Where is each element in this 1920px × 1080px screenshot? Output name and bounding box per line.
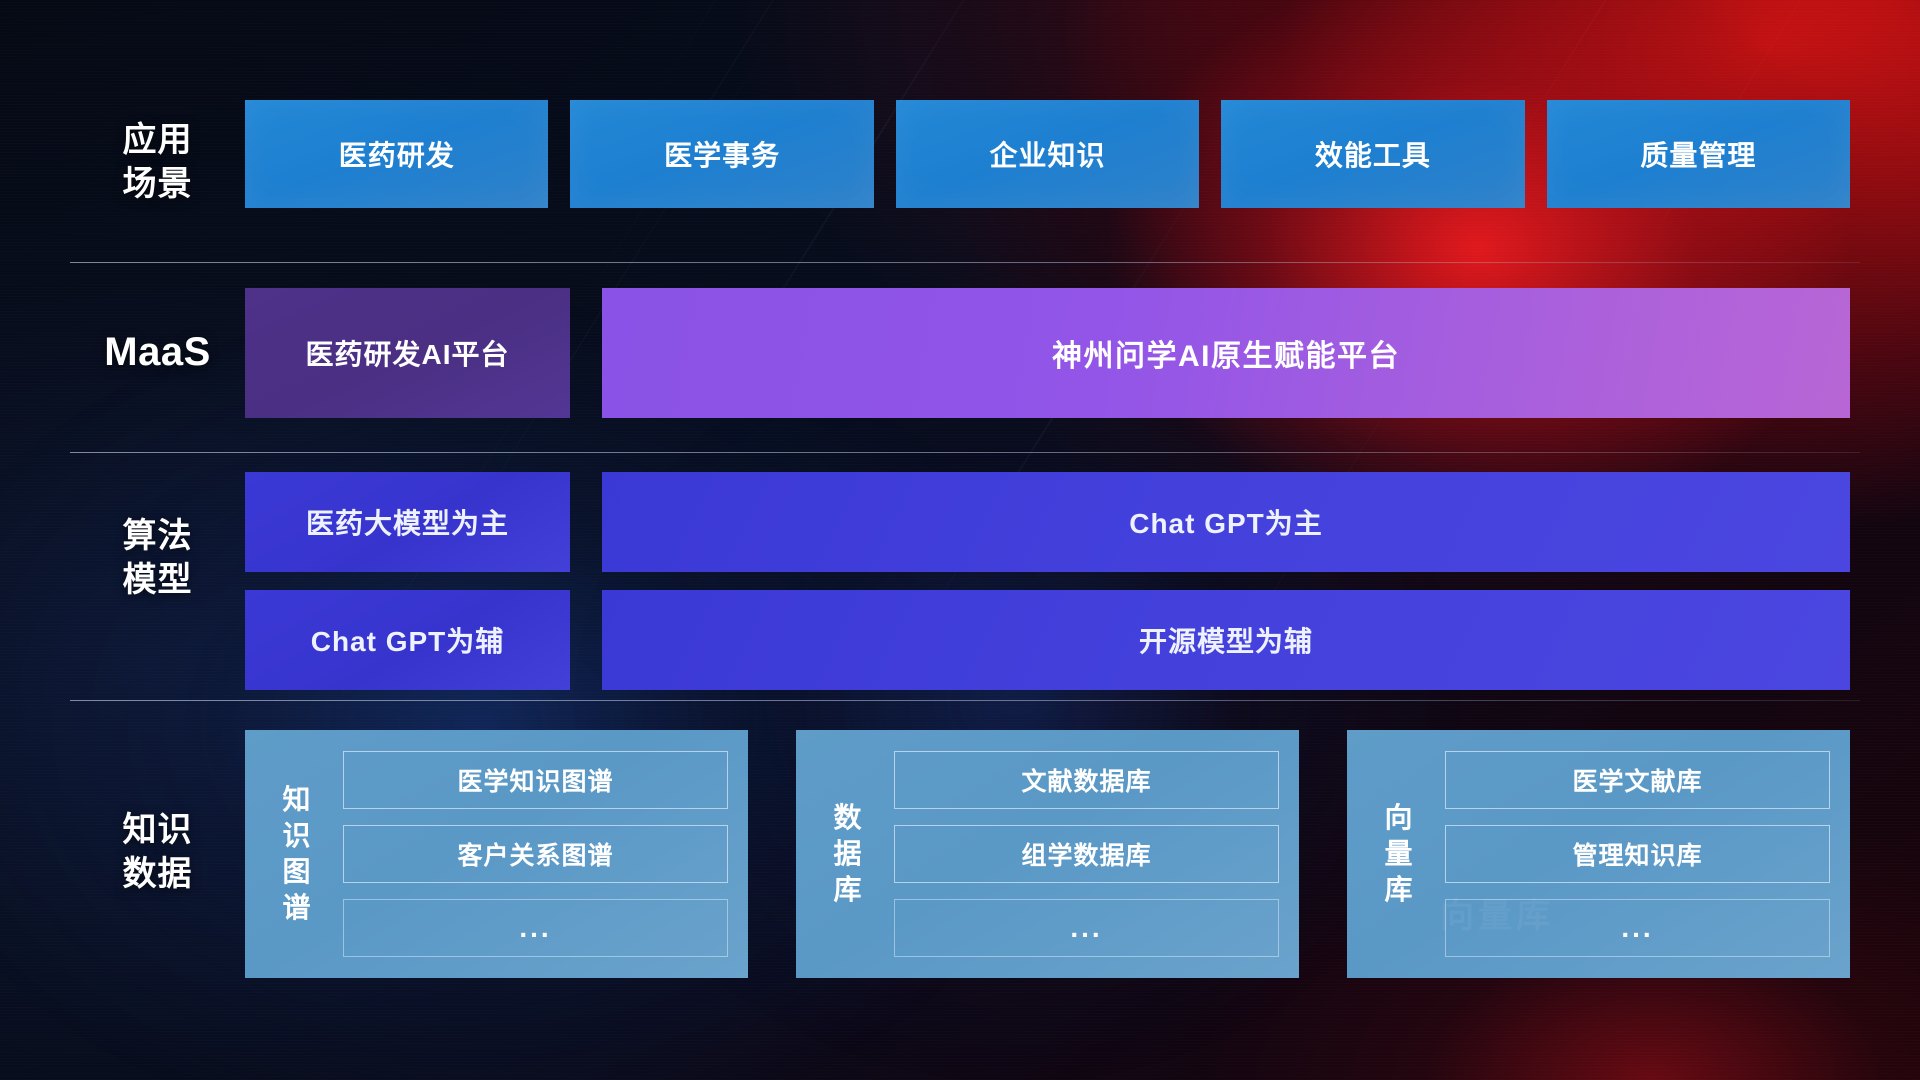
knowledge-item-more[interactable]: ... xyxy=(894,899,1279,957)
app-card-medical-rnd[interactable]: 医药研发 xyxy=(245,100,548,208)
knowledge-item-label: ... xyxy=(1070,912,1102,944)
application-card-list: 医药研发 医学事务 企业知识 效能工具 质量管理 xyxy=(245,100,1850,208)
knowledge-panel-list: 知 识 图 谱 医学知识图谱 客户关系图谱 ... 数 据 xyxy=(245,730,1850,978)
knowledge-item-omics-database[interactable]: 组学数据库 xyxy=(894,825,1279,883)
knowledge-panel-items: 医学文献库 管理知识库 ... xyxy=(1445,751,1830,957)
algorithm-card-grid: 医药大模型为主 Chat GPT为主 Chat GPT为辅 开源模型为辅 xyxy=(245,472,1850,690)
knowledge-panel-database[interactable]: 数 据 库 文献数据库 组学数据库 ... xyxy=(796,730,1299,978)
knowledge-panel-items: 文献数据库 组学数据库 ... xyxy=(894,751,1279,957)
row-label-knowledge-data: 知识 数据 xyxy=(70,808,245,896)
knowledge-panel-knowledge-graph[interactable]: 知 识 图 谱 医学知识图谱 客户关系图谱 ... xyxy=(245,730,748,978)
knowledge-item-label: 组学数据库 xyxy=(1021,836,1151,872)
divider-after-application xyxy=(70,262,1860,263)
knowledge-item-label: 客户关系图谱 xyxy=(457,836,613,872)
algorithm-row-secondary: Chat GPT为辅 开源模型为辅 xyxy=(245,590,1850,690)
algo-card-label: Chat GPT为主 xyxy=(1129,502,1323,542)
algo-card-chatgpt-primary[interactable]: Chat GPT为主 xyxy=(602,472,1850,572)
app-card-label: 效能工具 xyxy=(1315,134,1431,174)
algo-card-opensource-secondary[interactable]: 开源模型为辅 xyxy=(602,590,1850,690)
maas-card-list: 医药研发AI平台 神州问学AI原生赋能平台 xyxy=(245,288,1850,418)
knowledge-item-label: 管理知识库 xyxy=(1572,836,1702,872)
slide-canvas: 应用 场景 医药研发 医学事务 企业知识 效能工具 质量管理 xyxy=(0,0,1920,1080)
knowledge-panel-vector-store[interactable]: 向 量 库 医学文献库 管理知识库 ... xyxy=(1347,730,1850,978)
knowledge-item-medical-knowledge-graph[interactable]: 医学知识图谱 xyxy=(343,751,728,809)
algo-card-label: 开源模型为辅 xyxy=(1139,620,1313,660)
maas-card-pharma-ai-platform[interactable]: 医药研发AI平台 xyxy=(245,288,570,418)
knowledge-item-management-knowledge-store[interactable]: 管理知识库 xyxy=(1445,825,1830,883)
row-label-maas: MaaS xyxy=(70,330,245,374)
knowledge-item-more[interactable]: ... xyxy=(343,899,728,957)
row-label-application-scenarios: 应用 场景 xyxy=(70,118,245,206)
algorithm-row-primary: 医药大模型为主 Chat GPT为主 xyxy=(245,472,1850,572)
knowledge-panel-title: 向 量 库 xyxy=(1367,800,1431,908)
knowledge-panel-items: 医学知识图谱 客户关系图谱 ... xyxy=(343,751,728,957)
knowledge-panel-title: 知 识 图 谱 xyxy=(265,782,329,926)
row-label-algorithm-models: 算法 模型 xyxy=(70,514,245,602)
knowledge-item-label: ... xyxy=(1621,912,1653,944)
app-card-enterprise-knowledge[interactable]: 企业知识 xyxy=(896,100,1199,208)
app-card-label: 医学事务 xyxy=(664,134,780,174)
knowledge-item-label: 医学文献库 xyxy=(1572,762,1702,798)
app-card-medical-affairs[interactable]: 医学事务 xyxy=(570,100,873,208)
knowledge-item-literature-database[interactable]: 文献数据库 xyxy=(894,751,1279,809)
knowledge-item-label: 文献数据库 xyxy=(1021,762,1151,798)
knowledge-item-label: ... xyxy=(519,912,551,944)
knowledge-panel-title: 数 据 库 xyxy=(816,800,880,908)
knowledge-item-more[interactable]: ... xyxy=(1445,899,1830,957)
divider-after-algorithm xyxy=(70,700,1860,701)
algo-card-label: Chat GPT为辅 xyxy=(311,620,505,660)
knowledge-item-customer-relation-graph[interactable]: 客户关系图谱 xyxy=(343,825,728,883)
app-card-label: 质量管理 xyxy=(1640,134,1756,174)
algo-card-chatgpt-secondary[interactable]: Chat GPT为辅 xyxy=(245,590,570,690)
knowledge-item-label: 医学知识图谱 xyxy=(457,762,613,798)
maas-card-label: 神州问学AI原生赋能平台 xyxy=(1052,331,1400,375)
algo-card-pharma-large-model-primary[interactable]: 医药大模型为主 xyxy=(245,472,570,572)
algo-card-label: 医药大模型为主 xyxy=(306,502,509,542)
divider-after-maas xyxy=(70,452,1860,453)
app-card-efficiency-tools[interactable]: 效能工具 xyxy=(1221,100,1524,208)
maas-card-label: 医药研发AI平台 xyxy=(305,333,509,373)
maas-card-shenzhou-wenxue-platform[interactable]: 神州问学AI原生赋能平台 xyxy=(602,288,1850,418)
app-card-label: 企业知识 xyxy=(990,134,1106,174)
app-card-quality-management[interactable]: 质量管理 xyxy=(1547,100,1850,208)
app-card-label: 医药研发 xyxy=(339,134,455,174)
knowledge-item-medical-literature-store[interactable]: 医学文献库 xyxy=(1445,751,1830,809)
diagram-content: 应用 场景 医药研发 医学事务 企业知识 效能工具 质量管理 xyxy=(0,0,1920,1080)
